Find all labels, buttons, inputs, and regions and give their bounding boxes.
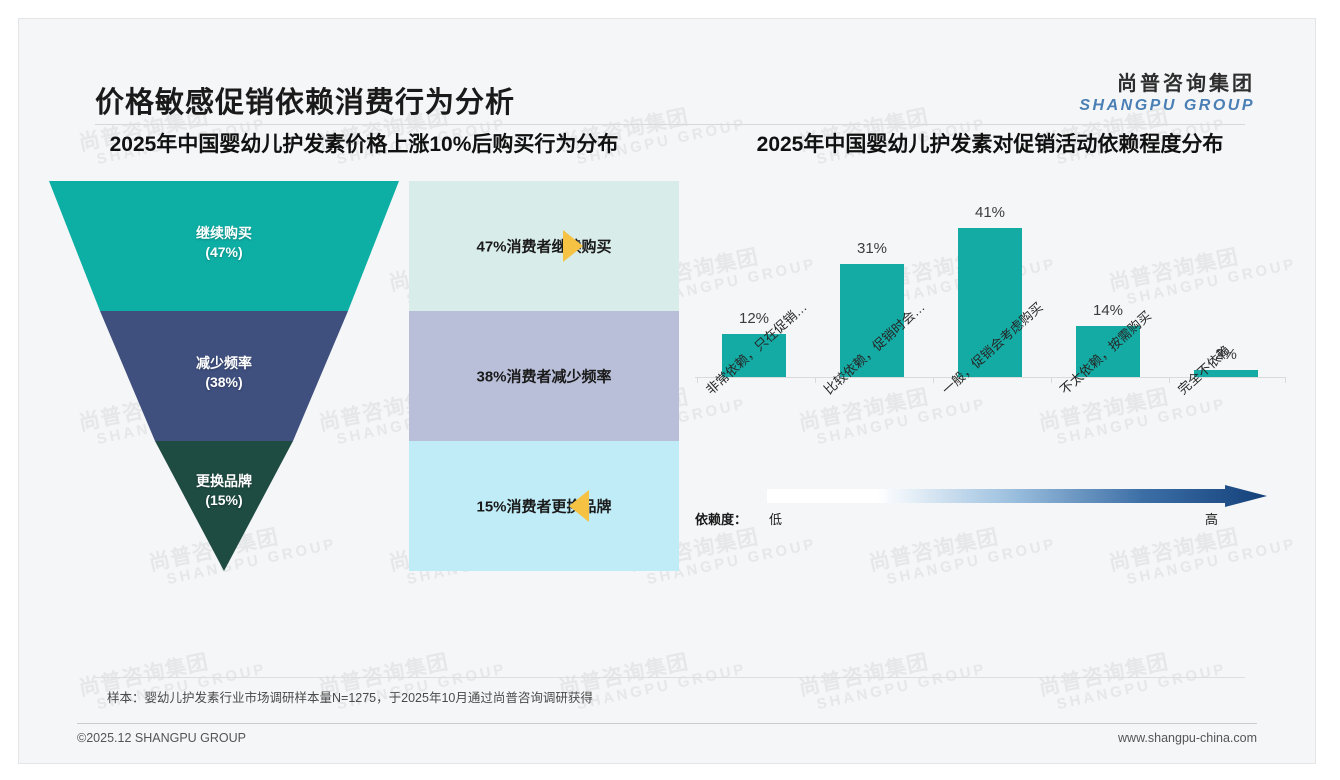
x-axis-tick [1051, 377, 1052, 383]
right-chart-panel: 2025年中国婴幼儿护发素对促销活动依赖程度分布 12%31%41%14%2% … [685, 131, 1295, 485]
page-title: 价格敏感促销依赖消费行为分析 [95, 79, 515, 121]
funnel-shape [49, 181, 559, 571]
copyright-text: ©2025.12 SHANGPU GROUP [77, 731, 246, 745]
x-axis-tick [1169, 377, 1170, 383]
slide-header: 价格敏感促销依赖消费行为分析 尚普咨询集团 SHANGPU GROUP [19, 19, 1315, 119]
legend-label: 依赖度： [695, 509, 747, 528]
footer-divider [77, 723, 1257, 724]
bar-value-label: 31% [857, 240, 887, 257]
logo-text-cn: 尚普咨询集团 [1079, 67, 1255, 96]
x-axis-tick [1285, 377, 1286, 383]
marker-triangle-left-icon [569, 490, 589, 522]
content-area: 2025年中国婴幼儿护发素价格上涨10%后购买行为分布 47%消费者继续购买继续… [19, 131, 1315, 671]
dependency-gradient-legend: 依赖度： [695, 485, 1285, 531]
funnel-stage-label: 更换品牌(15%) [164, 472, 284, 510]
gradient-arrow [767, 485, 1267, 507]
x-axis-tick [697, 377, 698, 383]
brand-logo: 尚普咨询集团 SHANGPU GROUP [1079, 67, 1255, 115]
x-axis-tick [933, 377, 934, 383]
sample-footnote: 样本：婴幼儿护发素行业市场调研样本量N=1275，于2025年10月通过尚普咨询… [107, 687, 593, 706]
bar-value-label: 12% [739, 310, 769, 327]
legend-low-label: 低 [769, 509, 782, 528]
left-chart-panel: 2025年中国婴幼儿护发素价格上涨10%后购买行为分布 47%消费者继续购买继续… [49, 131, 679, 571]
logo-text-en: SHANGPU GROUP [1079, 97, 1255, 115]
gradient-arrow-svg [767, 485, 1267, 507]
right-chart-title: 2025年中国婴幼儿护发素对促销活动依赖程度分布 [685, 131, 1295, 159]
funnel-stage-label: 继续购买(47%) [164, 224, 284, 262]
slide-footer: ©2025.12 SHANGPU GROUP www.shangpu-china… [19, 731, 1315, 761]
bar-chart: 12%31%41%14%2% 依赖度： [685, 185, 1295, 485]
x-axis-tick [815, 377, 816, 383]
funnel-chart: 47%消费者继续购买继续购买(47%)38%消费者减少频率减少频率(38%)15… [49, 181, 679, 571]
header-divider [95, 124, 1245, 125]
bar-value-label: 41% [975, 204, 1005, 221]
website-link[interactable]: www.shangpu-china.com [1118, 731, 1257, 745]
left-chart-title: 2025年中国婴幼儿护发素价格上涨10%后购买行为分布 [49, 131, 679, 159]
marker-triangle-right-icon [563, 230, 583, 262]
footnote-divider [95, 677, 1245, 678]
slide-canvas: 尚普咨询集团SHANGPU GROUP尚普咨询集团SHANGPU GROUP尚普… [18, 18, 1316, 764]
legend-high-label: 高 [1205, 509, 1218, 528]
funnel-stage-label: 减少频率(38%) [164, 354, 284, 392]
bar-value-label: 14% [1093, 302, 1123, 319]
